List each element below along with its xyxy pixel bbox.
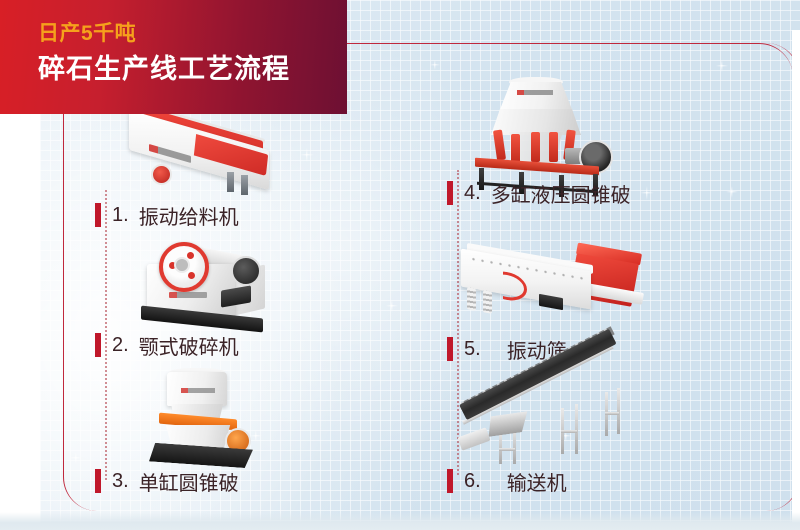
flow-step-2-figure [95, 234, 425, 330]
step-marker-bar [95, 203, 101, 227]
flow-step-3-number: 3. [112, 470, 129, 493]
step-marker-bar [447, 337, 453, 361]
step-marker-bar [95, 469, 101, 493]
flow-step-6-figure [447, 370, 777, 466]
process-flow-infographic: 日产5千吨 碎石生产线工艺流程 1. 振动给料机 [0, 0, 800, 530]
flow-step-6-label: 输送机 [507, 467, 567, 496]
flow-step-6-number: 6. [464, 470, 481, 493]
flow-step-2[interactable]: 2. 颚式破碎机 [95, 234, 425, 360]
flow-step-5-figure [447, 238, 777, 334]
step-marker-bar [447, 469, 453, 493]
flow-step-1[interactable]: 1. 振动给料机 [95, 104, 425, 230]
flow-step-3-label-row: 3. 单缸圆锥破 [95, 466, 425, 496]
flow-step-2-label-row: 2. 颚式破碎机 [95, 330, 425, 360]
flow-step-6[interactable]: 6. 输送机 [447, 370, 777, 496]
flow-step-4-label: 多缸液压圆锥破 [491, 179, 631, 208]
flow-step-3-figure [95, 370, 425, 466]
flow-step-2-number: 2. [112, 334, 129, 357]
step-marker-bar [95, 333, 101, 357]
flow-step-1-number: 1. [112, 204, 129, 227]
flow-step-4[interactable]: 4. 多缸液压圆锥破 [447, 82, 777, 208]
flow-step-1-label: 振动给料机 [139, 201, 239, 230]
flow-step-1-figure [95, 104, 425, 200]
flow-step-2-label: 颚式破碎机 [139, 331, 239, 360]
vibrating-screen-icon [461, 244, 651, 328]
flow-step-1-label-row: 1. 振动给料机 [95, 200, 425, 230]
flow-step-6-label-row: 6. 输送机 [447, 466, 777, 496]
header-banner: 日产5千吨 碎石生产线工艺流程 [0, 0, 347, 114]
jaw-crusher-icon [135, 236, 285, 330]
bottom-fade [0, 512, 800, 530]
frame-edge-mask [792, 30, 800, 530]
flow-step-3-label: 单缸圆锥破 [139, 467, 239, 496]
multi-cylinder-hydraulic-cone-crusher-icon [467, 82, 617, 190]
flow-step-3[interactable]: 3. 单缸圆锥破 [95, 370, 425, 496]
single-cylinder-cone-crusher-icon [139, 372, 269, 466]
banner-subtitle: 日产5千吨 [38, 22, 338, 46]
flow-step-4-label-row: 4. 多缸液压圆锥破 [447, 178, 777, 208]
belt-conveyor-icon [457, 374, 637, 466]
flow-step-5-number: 5. [464, 338, 481, 361]
header-banner-text: 日产5千吨 碎石生产线工艺流程 [38, 22, 338, 85]
banner-title: 碎石生产线工艺流程 [38, 54, 338, 85]
flow-step-4-number: 4. [464, 182, 481, 205]
flow-step-4-figure [447, 82, 777, 178]
vibrating-feeder-icon [123, 112, 283, 192]
step-marker-bar [447, 181, 453, 205]
